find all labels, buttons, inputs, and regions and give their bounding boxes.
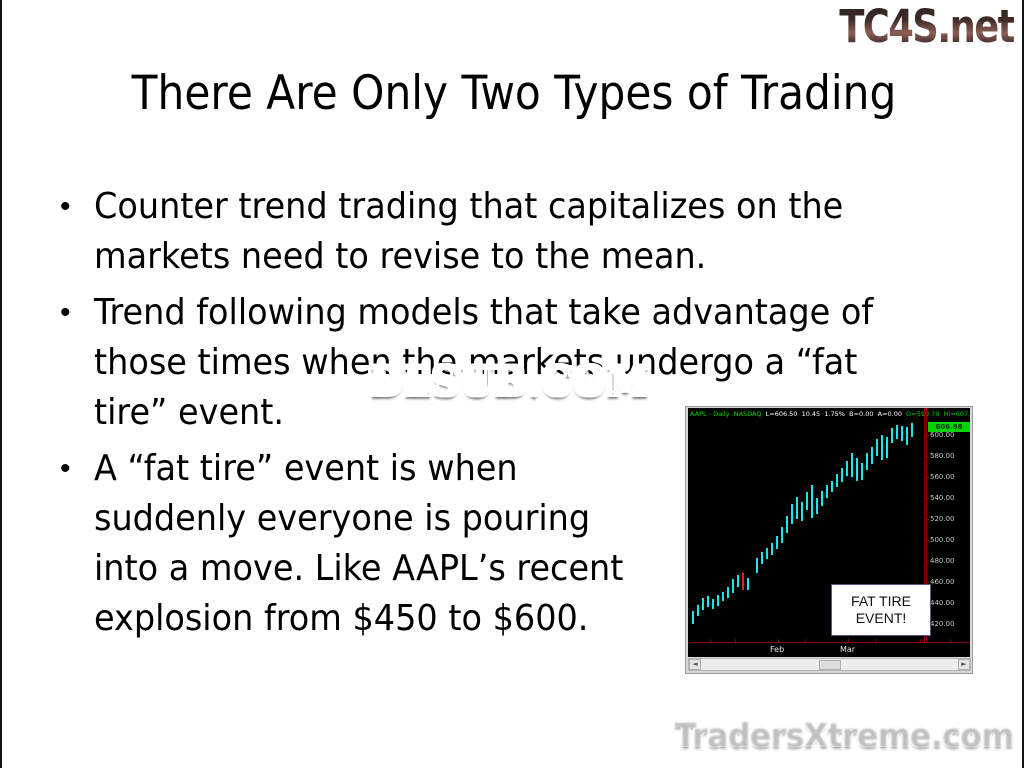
bullet-item-1: • Counter trend trading that capitalizes… (60, 182, 980, 282)
brand-logo-tc4s: TC4S.net (840, 2, 1014, 52)
candlestick-bar (861, 463, 863, 480)
chart-exchange-label: NASDAQ (734, 410, 762, 418)
chart-ask: A=0.00 (878, 410, 902, 418)
price-tick-label: 420.00 (930, 620, 955, 628)
fat-tire-event-callout: FAT TIRE EVENT! (831, 584, 931, 636)
candlestick-bar (727, 587, 729, 599)
price-tick-label: 540.00 (930, 494, 955, 502)
stock-chart-window[interactable]: AAPL - Daily NASDAQ L=606.50 10.45 1.75%… (685, 406, 973, 674)
time-tick-mark (875, 639, 876, 643)
chart-bid: B=0.00 (849, 410, 873, 418)
candlestick-bar (692, 611, 694, 624)
candlestick-bar (761, 552, 763, 564)
price-tick-label: 600.00 (930, 431, 955, 439)
brand-logo-tradersxtreme: TradersXtreme.com TradersXtreme.com (675, 714, 1014, 754)
candlestick-bar (816, 498, 818, 515)
price-tick-label: 520.00 (930, 515, 955, 523)
time-tick-mark (735, 639, 736, 643)
bullet-marker-icon: • (60, 444, 94, 494)
chart-last-price: L=606.50 (766, 410, 798, 418)
candlestick-bar (846, 461, 848, 476)
candlestick-bar (821, 491, 823, 506)
candlestick-bar (851, 453, 853, 476)
scroll-right-arrow-icon[interactable]: ► (958, 659, 970, 670)
candlestick-bar (836, 474, 838, 487)
candlestick-bar (826, 485, 828, 498)
bullet-text-3: A “fat tire” event is when suddenly ever… (94, 444, 623, 644)
candlestick-bar (901, 426, 903, 441)
candlestick-bar (742, 573, 744, 590)
slide-canvas: TC4S.net There Are Only Two Types of Tra… (0, 0, 1024, 768)
price-tick-label: 580.00 (930, 452, 955, 460)
candlestick-bar (911, 423, 913, 437)
chart-horizontal-scrollbar[interactable]: ◄ ► (688, 658, 971, 671)
bullet-text-1: Counter trend trading that capitalizes o… (94, 182, 843, 282)
candlestick-bar (891, 428, 893, 443)
candlestick-bar (876, 439, 878, 456)
candlestick-bar (841, 468, 843, 482)
time-tick-mark (950, 639, 951, 643)
chart-canvas[interactable]: AAPL - Daily NASDAQ L=606.50 10.45 1.75%… (688, 408, 970, 657)
candlestick-bar (801, 502, 803, 521)
candlestick-bar (881, 435, 883, 460)
candlestick-bar (732, 579, 734, 593)
candlestick-bar (702, 598, 704, 610)
time-tick-mark (778, 639, 779, 643)
candlestick-bar (756, 558, 758, 573)
candlestick-bar (856, 458, 858, 481)
chart-symbol-label: AAPL (690, 410, 707, 418)
price-tick-label: 440.00 (930, 599, 955, 607)
candlestick-bar (866, 453, 868, 470)
candlestick-bar (781, 527, 783, 543)
chart-change-percent: 1.75% (824, 410, 845, 418)
candlestick-bar (712, 599, 714, 608)
time-tick-label: Feb (770, 645, 784, 654)
candlestick-bar (871, 447, 873, 464)
page-title: There Are Only Two Types of Trading (53, 66, 975, 121)
price-tick-label: 460.00 (930, 578, 955, 586)
brand-tradersxtreme-text: TradersXtreme.com (675, 714, 1014, 753)
callout-line-2: EVENT! (856, 610, 907, 627)
price-tick-label: 560.00 (930, 473, 955, 481)
candlestick-bar (831, 481, 833, 493)
bullet-marker-icon: • (60, 288, 94, 338)
candlestick-bar (811, 485, 813, 518)
candlestick-bar (766, 548, 768, 560)
time-tick-mark (920, 639, 921, 643)
price-tick-label: 500.00 (930, 536, 955, 544)
price-axis-scale: 606.98 600.00580.00560.00540.00520.00500… (926, 408, 970, 657)
candlestick-bar (737, 575, 739, 587)
bullet-marker-icon: • (60, 182, 94, 232)
candlestick-bar (707, 596, 709, 606)
watermark-dlsub: DLSUB.COM DLSUB.COM (370, 360, 650, 404)
candlestick-bar (806, 492, 808, 510)
candlestick-bar (697, 605, 699, 617)
scrollbar-thumb[interactable] (819, 660, 841, 670)
candlestick-bar (786, 516, 788, 533)
candlestick-bar (906, 427, 908, 445)
time-tick-mark (710, 639, 711, 643)
price-tick-label: 480.00 (930, 557, 955, 565)
chart-interval-label: Daily (713, 410, 729, 418)
candlestick-bar (722, 592, 724, 601)
time-tick-mark (848, 639, 849, 643)
time-tick-label: Mar (840, 645, 855, 654)
callout-line-1: FAT TIRE (851, 593, 911, 610)
candlestick-bar (886, 437, 888, 458)
scroll-left-arrow-icon[interactable]: ◄ (689, 659, 701, 670)
candlestick-bar (776, 536, 778, 549)
watermark-dlsub-text: DLSUB.COM (370, 358, 650, 405)
chart-change: 10.45 (802, 410, 821, 418)
candlestick-bar (717, 595, 719, 605)
candlestick-bar (796, 497, 798, 519)
candlestick-bar (771, 543, 773, 556)
candlestick-bar (747, 578, 749, 590)
candlestick-bar (896, 425, 898, 439)
time-tick-mark (805, 639, 806, 643)
candlestick-bar (791, 504, 793, 524)
time-axis: FebMar (690, 642, 970, 657)
